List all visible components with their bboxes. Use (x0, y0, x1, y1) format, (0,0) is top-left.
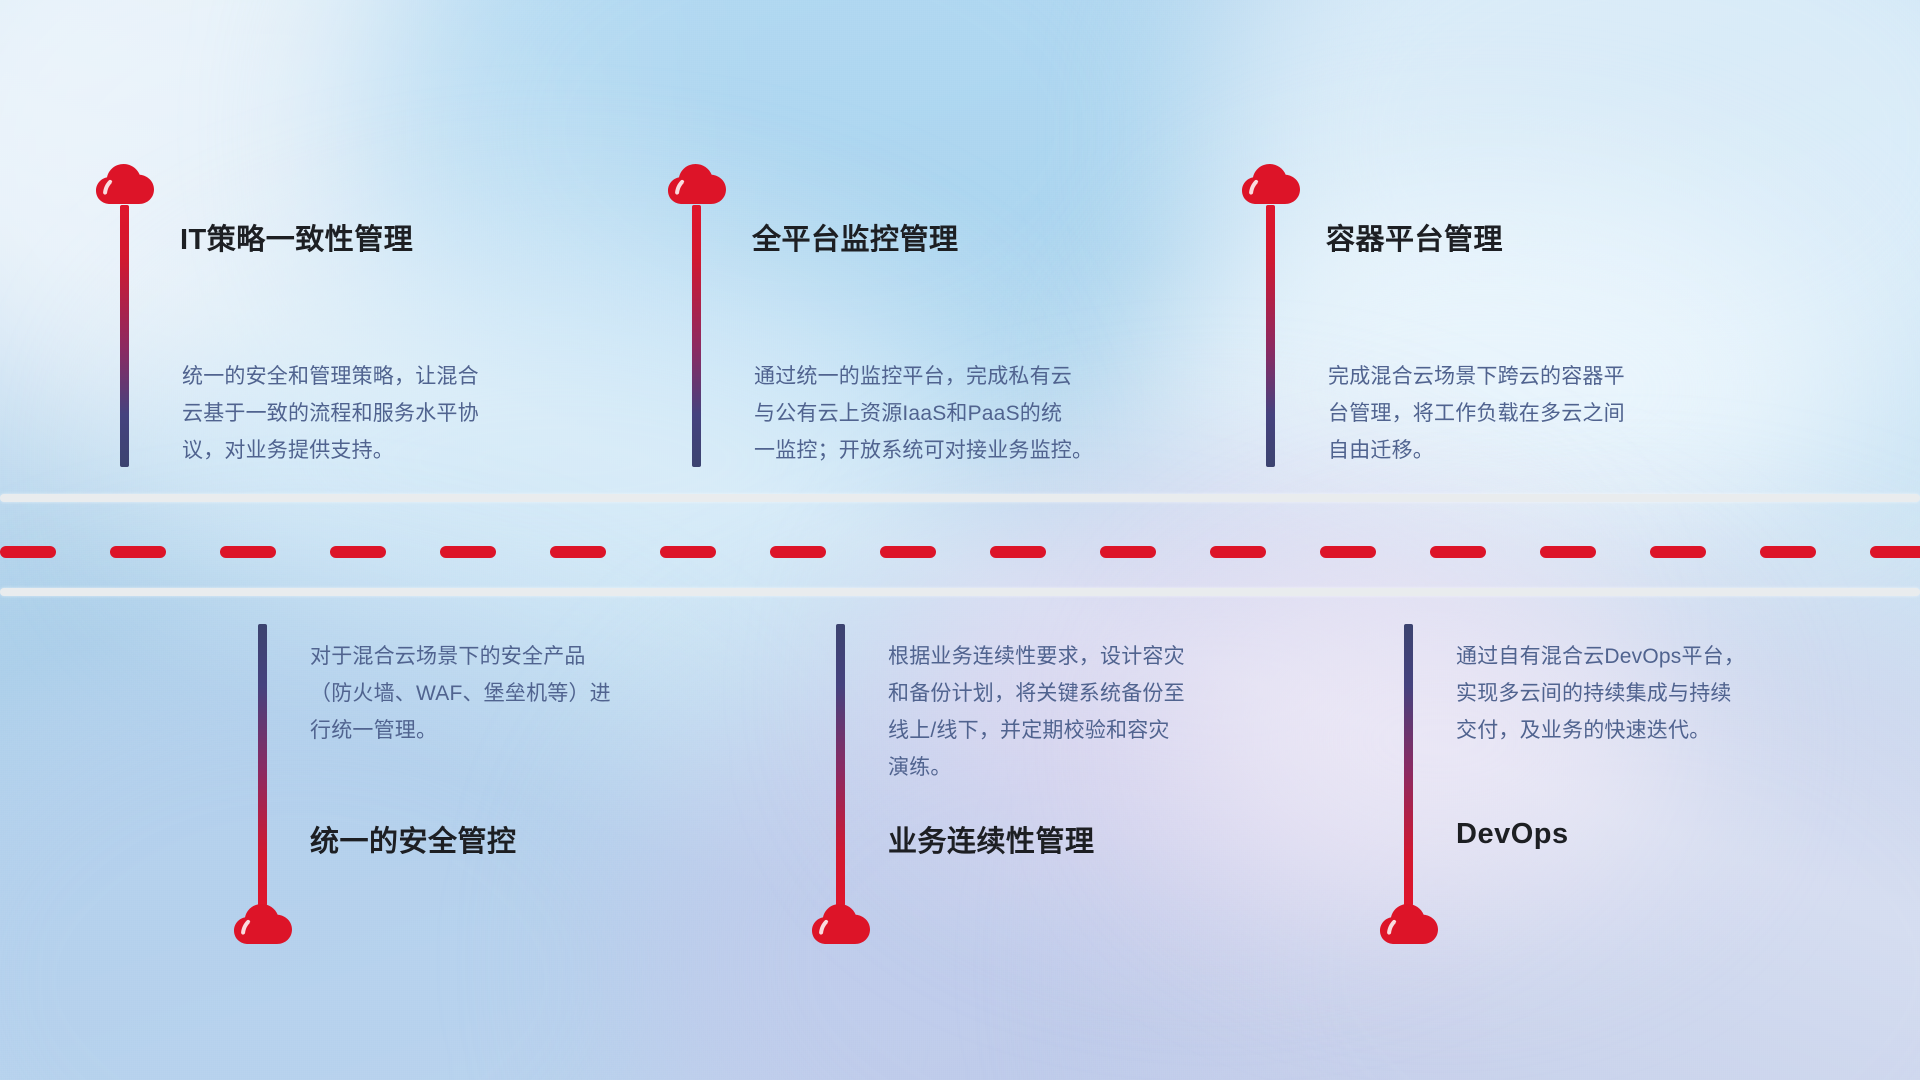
description-line: 云基于一致的流程和服务水平协 (182, 395, 602, 432)
marker-pole (1266, 205, 1275, 467)
road-dash-segment (1870, 546, 1920, 558)
description-line: 线上/线下，并定期校验和容灾 (888, 712, 1308, 749)
marker-pole (836, 624, 845, 906)
road-dash-segment (440, 546, 496, 558)
road-dash-segment (1650, 546, 1706, 558)
cloud-icon (232, 898, 294, 946)
cloud-icon (810, 898, 872, 946)
description-line: 和备份计划，将关键系统备份至 (888, 675, 1308, 712)
road-edge-top (0, 494, 1920, 502)
description-line: 对于混合云场景下的安全产品 (310, 638, 730, 675)
card-description-it-policy-consistency: 统一的安全和管理策略，让混合云基于一致的流程和服务水平协议，对业务提供支持。 (182, 358, 602, 469)
card-heading-full-platform-monitoring: 全平台监控管理 (752, 216, 959, 258)
road-edge-bottom (0, 588, 1920, 596)
infographic-canvas: IT策略一致性管理统一的安全和管理策略，让混合云基于一致的流程和服务水平协议，对… (0, 0, 1920, 1080)
marker-pole (120, 205, 129, 467)
card-heading-container-platform: 容器平台管理 (1326, 216, 1503, 258)
card-description-business-continuity: 根据业务连续性要求，设计容灾和备份计划，将关键系统备份至线上/线下，并定期校验和… (888, 638, 1308, 786)
road-dash-segment (110, 546, 166, 558)
description-line: （防火墙、WAF、堡垒机等）进 (310, 675, 730, 712)
card-heading-unified-security: 统一的安全管控 (310, 818, 517, 860)
road-dash-segment (550, 546, 606, 558)
road-dash-segment (1100, 546, 1156, 558)
description-line: 台管理，将工作负载在多云之间 (1328, 395, 1748, 432)
road-dash-segment (1760, 546, 1816, 558)
road-dash-segment (1540, 546, 1596, 558)
description-line: 演练。 (888, 749, 1308, 786)
road-dash-segment (770, 546, 826, 558)
road-center-dash (0, 546, 1920, 558)
description-line: 交付，及业务的快速迭代。 (1456, 712, 1876, 749)
description-line: 自由迁移。 (1328, 432, 1748, 469)
cloud-icon (1240, 158, 1302, 206)
marker-pole (692, 205, 701, 467)
description-line: 一监控；开放系统可对接业务监控。 (754, 432, 1174, 469)
description-line: 行统一管理。 (310, 712, 730, 749)
card-description-full-platform-monitoring: 通过统一的监控平台，完成私有云与公有云上资源IaaS和PaaS的统一监控；开放系… (754, 358, 1174, 469)
marker-pole (258, 624, 267, 906)
road-dash-segment (1430, 546, 1486, 558)
card-description-container-platform: 完成混合云场景下跨云的容器平台管理，将工作负载在多云之间自由迁移。 (1328, 358, 1748, 469)
card-heading-devops: DevOps (1456, 818, 1569, 851)
cloud-icon (666, 158, 728, 206)
road-dash-segment (990, 546, 1046, 558)
description-line: 议，对业务提供支持。 (182, 432, 602, 469)
cloud-icon (94, 158, 156, 206)
description-line: 统一的安全和管理策略，让混合 (182, 358, 602, 395)
cloud-icon (1378, 898, 1440, 946)
road-dash-segment (1320, 546, 1376, 558)
road-dash-segment (330, 546, 386, 558)
description-line: 通过统一的监控平台，完成私有云 (754, 358, 1174, 395)
road-dash-segment (1210, 546, 1266, 558)
card-description-devops: 通过自有混合云DevOps平台，实现多云间的持续集成与持续交付，及业务的快速迭代… (1456, 638, 1876, 749)
description-line: 通过自有混合云DevOps平台， (1456, 638, 1876, 675)
road-dash-segment (0, 546, 56, 558)
description-line: 完成混合云场景下跨云的容器平 (1328, 358, 1748, 395)
description-line: 与公有云上资源IaaS和PaaS的统 (754, 395, 1174, 432)
marker-pole (1404, 624, 1413, 906)
road-dash-segment (220, 546, 276, 558)
road-dash-segment (660, 546, 716, 558)
card-heading-it-policy-consistency: IT策略一致性管理 (180, 216, 413, 258)
description-line: 实现多云间的持续集成与持续 (1456, 675, 1876, 712)
card-description-unified-security: 对于混合云场景下的安全产品（防火墙、WAF、堡垒机等）进行统一管理。 (310, 638, 730, 749)
road-dash-segment (880, 546, 936, 558)
description-line: 根据业务连续性要求，设计容灾 (888, 638, 1308, 675)
card-heading-business-continuity: 业务连续性管理 (888, 818, 1095, 860)
